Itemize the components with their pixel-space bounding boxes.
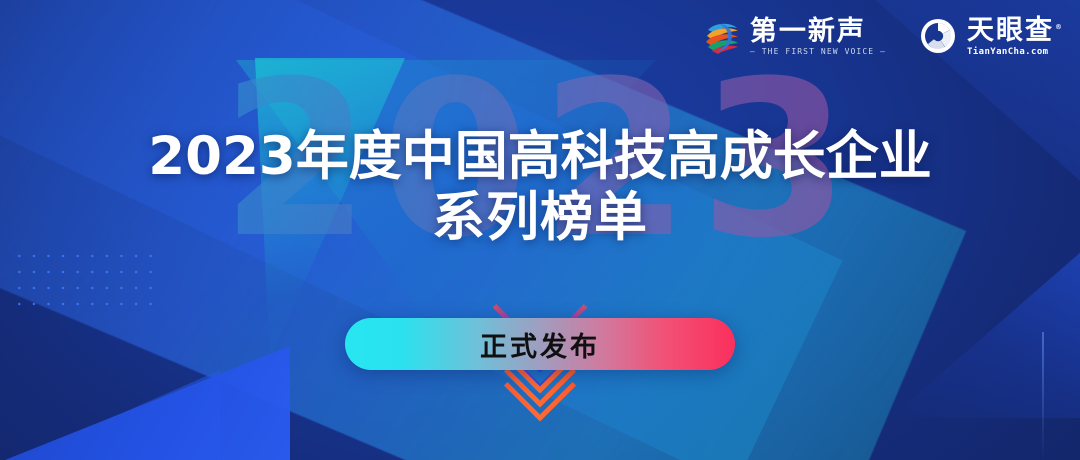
logo-tianyancha[interactable]: 天眼查® TianYanCha.com: [919, 17, 1064, 57]
logo-diyixinsheng-text: 第一新声 — THE FIRST NEW VOICE —: [750, 18, 886, 56]
logo-bar: 第一新声 — THE FIRST NEW VOICE — 天眼查® TianYa…: [702, 12, 1064, 62]
logo-diyixinsheng[interactable]: 第一新声 — THE FIRST NEW VOICE —: [702, 17, 886, 57]
title-line-2: 系列榜单: [0, 188, 1080, 247]
logo-tianyancha-tagline: TianYanCha.com: [967, 47, 1064, 57]
release-status-label: 正式发布: [480, 325, 600, 364]
camera-aperture-logo-icon: [919, 17, 959, 57]
triangle-bottom-left: [0, 346, 290, 460]
page-title: 2023年度中国高科技高成长企业 系列榜单: [0, 128, 1080, 248]
logo-tianyancha-name: 天眼查®: [967, 17, 1064, 45]
triangle-bottom-left-shadow: [0, 370, 220, 460]
swirl-ribbon-logo-icon: [702, 17, 742, 57]
promo-banner: 2023 第一新声 — THE FIRST NEW VOICE —: [0, 0, 1080, 460]
logo-tianyancha-text: 天眼查® TianYanCha.com: [967, 17, 1064, 56]
logo-diyixinsheng-name: 第一新声: [750, 18, 886, 46]
registered-trademark-icon: ®: [1055, 23, 1064, 31]
logo-divider: [902, 22, 903, 52]
edge-highlight-line-right: [1042, 332, 1044, 460]
title-line-1: 2023年度中国高科技高成长企业: [0, 128, 1080, 185]
logo-diyixinsheng-tagline: — THE FIRST NEW VOICE —: [750, 47, 886, 56]
release-status-pill[interactable]: 正式发布: [345, 318, 735, 370]
